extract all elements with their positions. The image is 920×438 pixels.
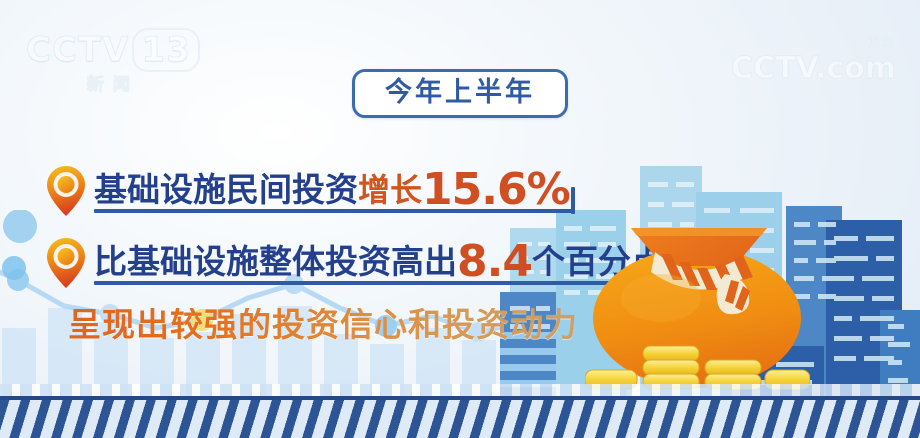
location-pin-icon bbox=[46, 165, 86, 217]
watermark-channel-number: 13 bbox=[132, 28, 199, 72]
conclusion-text: 呈现出较强的投资信心和投资动力 bbox=[68, 308, 578, 341]
watermark-subtitle: 新闻 bbox=[26, 70, 200, 95]
bottom-diagonal-strip bbox=[0, 396, 920, 438]
cctv13-watermark: CCTV13 新闻 bbox=[26, 28, 200, 95]
headline-pill: 今年上半年 bbox=[352, 69, 568, 118]
watermark-cctvcom-cn: 央视网 bbox=[731, 32, 896, 51]
fact-2-prefix: 比基础设施整体投资高出 bbox=[94, 243, 457, 280]
watermark-cctv-text: CCTV bbox=[26, 30, 129, 70]
cctvcom-watermark: 央视网 CCTV.com bbox=[731, 36, 896, 86]
fact-1-text: 基础设施民间投资增长15.6% bbox=[94, 170, 570, 213]
money-bag-icon bbox=[585, 200, 810, 400]
infographic-stage: CCTV13 新闻 央视网 CCTV.com 今年上半年 bbox=[0, 0, 920, 438]
fact-row-1: 基础设施民间投资增长15.6% bbox=[46, 165, 570, 213]
fact-2-text: 比基础设施整体投资高出8.4个百分点 bbox=[94, 242, 664, 285]
location-pin-icon bbox=[46, 237, 86, 289]
fact-row-2: 比基础设施整体投资高出8.4个百分点 bbox=[46, 237, 664, 285]
fact-1-value: 15.6% bbox=[422, 164, 570, 215]
headline-text: 今年上半年 bbox=[385, 77, 535, 107]
fact-1-prefix: 基础设施民间投资 bbox=[94, 171, 358, 208]
fact-1-underline bbox=[94, 209, 574, 213]
fact-1-mid: 增长 bbox=[358, 172, 422, 208]
fact-2-underline bbox=[94, 281, 668, 285]
watermark-cctvcom-text: CCTV.com bbox=[731, 51, 896, 86]
fact-2-value: 8.4 bbox=[457, 236, 532, 287]
